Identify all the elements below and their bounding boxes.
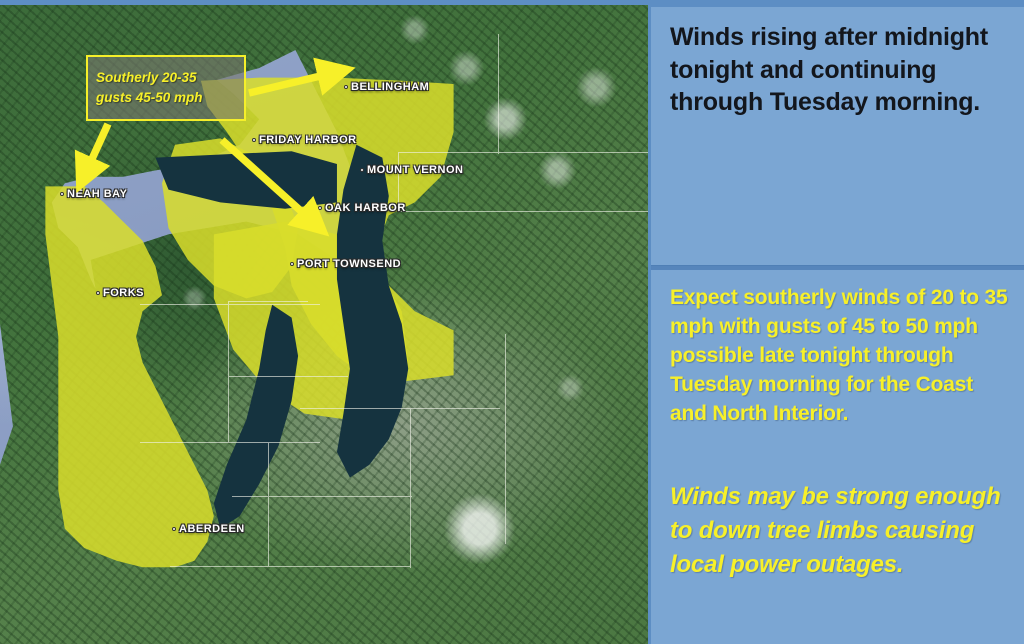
city-label-mount-vernon: MOUNT VERNON [360,164,463,176]
city-dot-icon [360,168,364,172]
map-panel[interactable]: BELLINGHAM FRIDAY HARBOR MOUNT VERNON OA… [0,4,648,644]
city-dot-icon [290,262,294,266]
panel-divider [651,265,1024,270]
info-panel: Winds rising after midnight tonight and … [648,4,1024,644]
city-label-neah-bay: NEAH BAY [60,188,127,200]
city-label-bellingham: BELLINGHAM [344,81,429,93]
advisory-text: Expect southerly winds of 20 to 35 mph w… [670,284,1010,429]
city-label-aberdeen: ABERDEEN [172,523,245,535]
city-dot-icon [96,291,100,295]
city-label-port-townsend: PORT TOWNSEND [290,258,401,270]
wind-speed-callout-box[interactable]: Southerly 20-35 gusts 45-50 mph [86,55,246,121]
impact-text: Winds may be strong enough to down tree … [670,480,1010,582]
top-border-strip [0,0,1024,5]
impact-block: Winds may be strong enough to down tree … [648,480,1024,582]
city-dot-icon [252,138,256,142]
city-dot-icon [344,85,348,89]
headline-text: Winds rising after midnight tonight and … [670,21,1004,119]
weather-advisory-graphic: BELLINGHAM FRIDAY HARBOR MOUNT VERNON OA… [0,0,1024,644]
city-dot-icon [318,206,322,210]
callout-line-1: Southerly 20-35 [96,68,236,88]
city-label-oak-harbor: OAK HARBOR [318,202,406,214]
city-dot-icon [172,527,176,531]
city-label-friday-harbor: FRIDAY HARBOR [252,134,357,146]
city-dot-icon [60,192,64,196]
city-label-forks: FORKS [96,287,144,299]
headline-block: Winds rising after midnight tonight and … [648,7,1024,265]
advisory-block: Expect southerly winds of 20 to 35 mph w… [648,276,1024,429]
callout-line-2: gusts 45-50 mph [96,88,236,108]
